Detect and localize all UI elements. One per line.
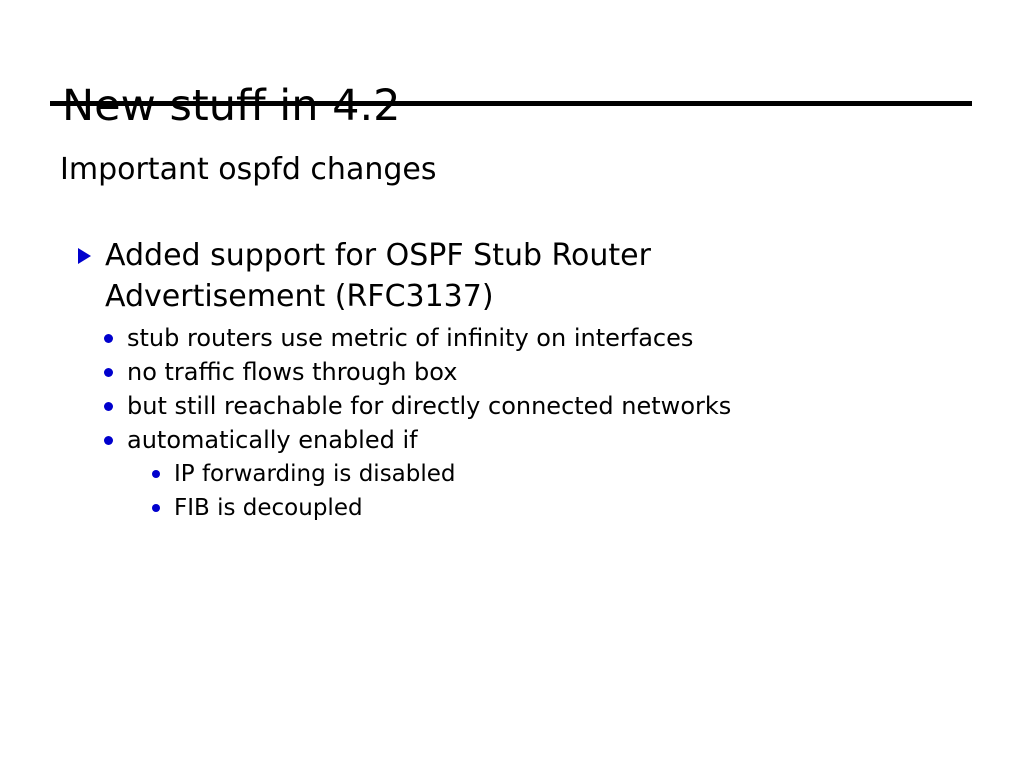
bullet-level1-label: Added support for OSPF Stub Router Adver… (105, 235, 745, 317)
round-dot-icon (104, 402, 113, 411)
list-item: stub routers use metric of infinity on i… (104, 322, 924, 356)
lead-paragraph: Important ospfd changes (60, 151, 436, 189)
bullet-level2-label: but still reachable for directly connect… (127, 390, 731, 423)
round-dot-icon (104, 368, 113, 377)
list-item: FIB is decoupled (152, 492, 852, 526)
round-dot-icon (104, 436, 113, 445)
list-item: but still reachable for directly connect… (104, 390, 924, 424)
bullet-level2-label: stub routers use metric of infinity on i… (127, 322, 693, 355)
title-underline-rule (50, 101, 972, 106)
list-item: IP forwarding is disabled (152, 458, 852, 492)
bullet-level2-label: automatically enabled if (127, 424, 418, 457)
list-item: no traffic flows through box (104, 356, 924, 390)
round-dot-icon (104, 334, 113, 343)
bullet-level2-label: no traffic flows through box (127, 356, 457, 389)
presentation-slide: New stuff in 4.2 Important ospfd changes… (0, 0, 1024, 768)
bullet-level3-label: FIB is decoupled (174, 492, 363, 525)
bullet-level3-list: IP forwarding is disabled FIB is decoupl… (152, 458, 852, 526)
bullet-level2-list: stub routers use metric of infinity on i… (104, 322, 924, 458)
round-dot-icon (152, 504, 160, 512)
round-dot-icon (152, 470, 160, 478)
bullet-level3-label: IP forwarding is disabled (174, 458, 456, 491)
triangle-right-icon (78, 248, 91, 264)
list-item: automatically enabled if (104, 424, 924, 458)
